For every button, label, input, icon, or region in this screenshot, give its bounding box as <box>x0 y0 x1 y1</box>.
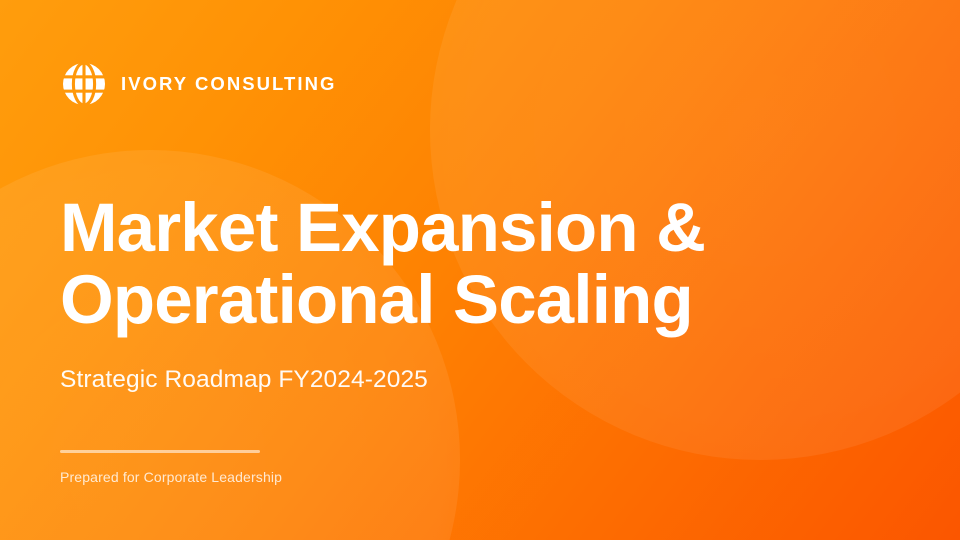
logo-lockup: IVORY CONSULTING <box>60 60 336 108</box>
footer-note: Prepared for Corporate Leadership <box>60 469 282 485</box>
divider-rule <box>60 450 260 453</box>
page-title: Market Expansion & Operational Scaling <box>60 192 900 336</box>
globe-icon <box>60 60 108 108</box>
title-slide: IVORY CONSULTING Market Expansion & Oper… <box>0 0 960 540</box>
title-line-2: Operational Scaling <box>60 264 900 336</box>
subtitle: Strategic Roadmap FY2024-2025 <box>60 366 428 394</box>
title-line-1: Market Expansion & <box>60 192 900 264</box>
brand-name: IVORY CONSULTING <box>121 73 336 95</box>
